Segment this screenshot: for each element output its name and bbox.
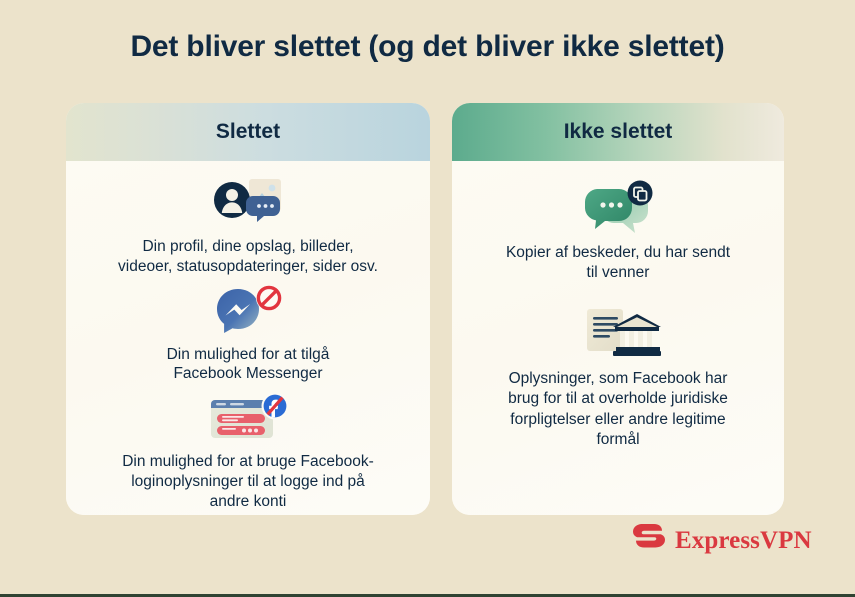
login-credentials-blocked-icon <box>204 390 292 446</box>
list-item-text: Oplysninger, som Facebook har brug for t… <box>508 369 728 450</box>
page-title: Det bliver slettet (og det bliver ikke s… <box>0 30 855 64</box>
list-item-text: Din profil, dine opslag, billeder, video… <box>118 237 378 277</box>
messenger-blocked-icon <box>212 283 284 339</box>
card-not-deleted-body: Kopier af beskeder, du har sendt til ven… <box>452 161 784 515</box>
card-deleted-body: Din profil, dine opslag, billeder, video… <box>66 161 430 515</box>
chat-copy-icon <box>580 179 656 237</box>
card-deleted-header: Slettet <box>66 103 430 161</box>
card-not-deleted-header: Ikke slettet <box>452 103 784 161</box>
card-not-deleted-header-label: Ikke slettet <box>564 120 673 144</box>
list-item-text: Kopier af beskeder, du har sendt til ven… <box>506 243 730 283</box>
list-item: Din mulighed for at bruge Facebook- logi… <box>82 390 414 511</box>
list-item-text: Din mulighed for at bruge Facebook- logi… <box>122 452 374 511</box>
document-courthouse-icon <box>575 305 661 363</box>
expressvpn-logo: ExpressVPN <box>632 523 812 558</box>
expressvpn-wordmark: ExpressVPN <box>675 528 812 553</box>
card-deleted-header-label: Slettet <box>216 120 280 144</box>
card-deleted: Slettet <box>66 103 430 515</box>
list-item: Kopier af beskeder, du har sendt til ven… <box>468 179 768 283</box>
card-not-deleted: Ikke slettet <box>452 103 784 515</box>
profile-photo-chat-icon <box>209 175 287 231</box>
list-item: Din profil, dine opslag, billeder, video… <box>82 175 414 277</box>
list-item-text: Din mulighed for at tilgå Facebook Messe… <box>167 345 330 385</box>
list-item: Din mulighed for at tilgå Facebook Messe… <box>82 283 414 385</box>
infographic-root: Det bliver slettet (og det bliver ikke s… <box>0 0 855 597</box>
list-item: Oplysninger, som Facebook har brug for t… <box>468 305 768 450</box>
expressvpn-mark-icon <box>632 523 666 558</box>
